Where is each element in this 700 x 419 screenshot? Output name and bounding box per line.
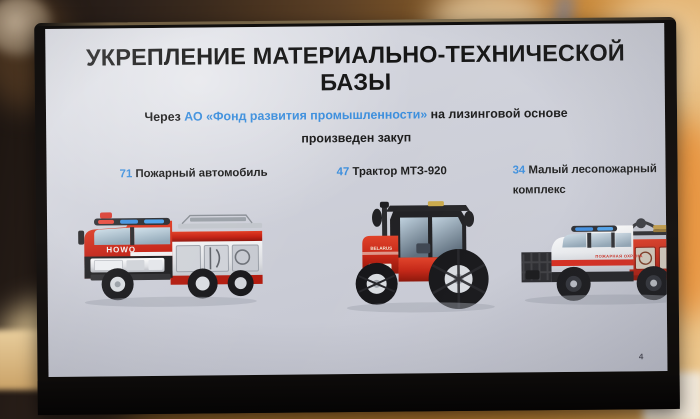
slide-items: 71 Пожарный автомобиль <box>60 159 654 365</box>
item-count-forest-fire-complex: 34 <box>513 164 526 176</box>
screenshot-scene: УКРЕПЛЕНИЕ МАТЕРИАЛЬНО-ТЕХНИЧЕСКОЙ БАЗЫ … <box>0 0 700 419</box>
slide-item-tractor: 47 Трактор МТЗ-920 <box>336 161 491 182</box>
item-label-tractor: 47 Трактор МТЗ-920 <box>336 161 491 182</box>
item-count-tractor: 47 <box>337 166 350 178</box>
monitor-bottom-bezel <box>38 375 680 415</box>
item-text-forest-fire-complex-line2: комплекс <box>513 179 668 201</box>
presentation-monitor: УКРЕПЛЕНИЕ МАТЕРИАЛЬНО-ТЕХНИЧЕСКОЙ БАЗЫ … <box>34 17 680 415</box>
slide-item-fire-truck: 71 Пожарный автомобиль <box>119 162 314 184</box>
slide-subtitle: Через АО «Фонд развития промышленности» … <box>98 102 614 153</box>
tractor-photo: BELARUS <box>332 191 503 315</box>
slide-title-line2: БАЗЫ <box>70 66 642 98</box>
item-count-fire-truck: 71 <box>120 168 133 180</box>
item-text-fire-truck: Пожарный автомобиль <box>135 167 267 180</box>
slide-item-forest-fire-complex: 34 Малый лесопожарный комплекс <box>512 159 667 201</box>
item-label-fire-truck: 71 Пожарный автомобиль <box>119 162 314 184</box>
svg-text:ПОЖАРНАЯ ОХРАНА: ПОЖАРНАЯ ОХРАНА <box>595 253 643 258</box>
item-text-tractor: Трактор МТЗ-920 <box>352 165 447 178</box>
fire-truck-photo: HOWO <box>70 195 267 317</box>
slide-title-line1: УКРЕПЛЕНИЕ МАТЕРИАЛЬНО-ТЕХНИЧЕСКОЙ <box>86 39 625 70</box>
subtitle-after: на лизинговой основе <box>427 106 567 121</box>
subtitle-line2: произведен закуп <box>98 125 614 153</box>
slide-page-number: 4 <box>639 352 644 361</box>
forest-fire-pickup-photo: ПОЖАРНАЯ ОХРАНА <box>511 199 668 313</box>
item-label-forest-fire-complex: 34 Малый лесопожарный комплекс <box>512 159 667 201</box>
subtitle-accent: АО «Фонд развития промышленности» <box>184 107 427 123</box>
presentation-slide: УКРЕПЛЕНИЕ МАТЕРИАЛЬНО-ТЕХНИЧЕСКОЙ БАЗЫ … <box>45 23 667 377</box>
svg-text:BELARUS: BELARUS <box>370 246 392 251</box>
subtitle-before: Через <box>144 110 184 124</box>
slide-title: УКРЕПЛЕНИЕ МАТЕРИАЛЬНО-ТЕХНИЧЕСКОЙ БАЗЫ <box>69 39 641 98</box>
item-text-forest-fire-complex-line1: Малый лесопожарный <box>528 163 657 176</box>
